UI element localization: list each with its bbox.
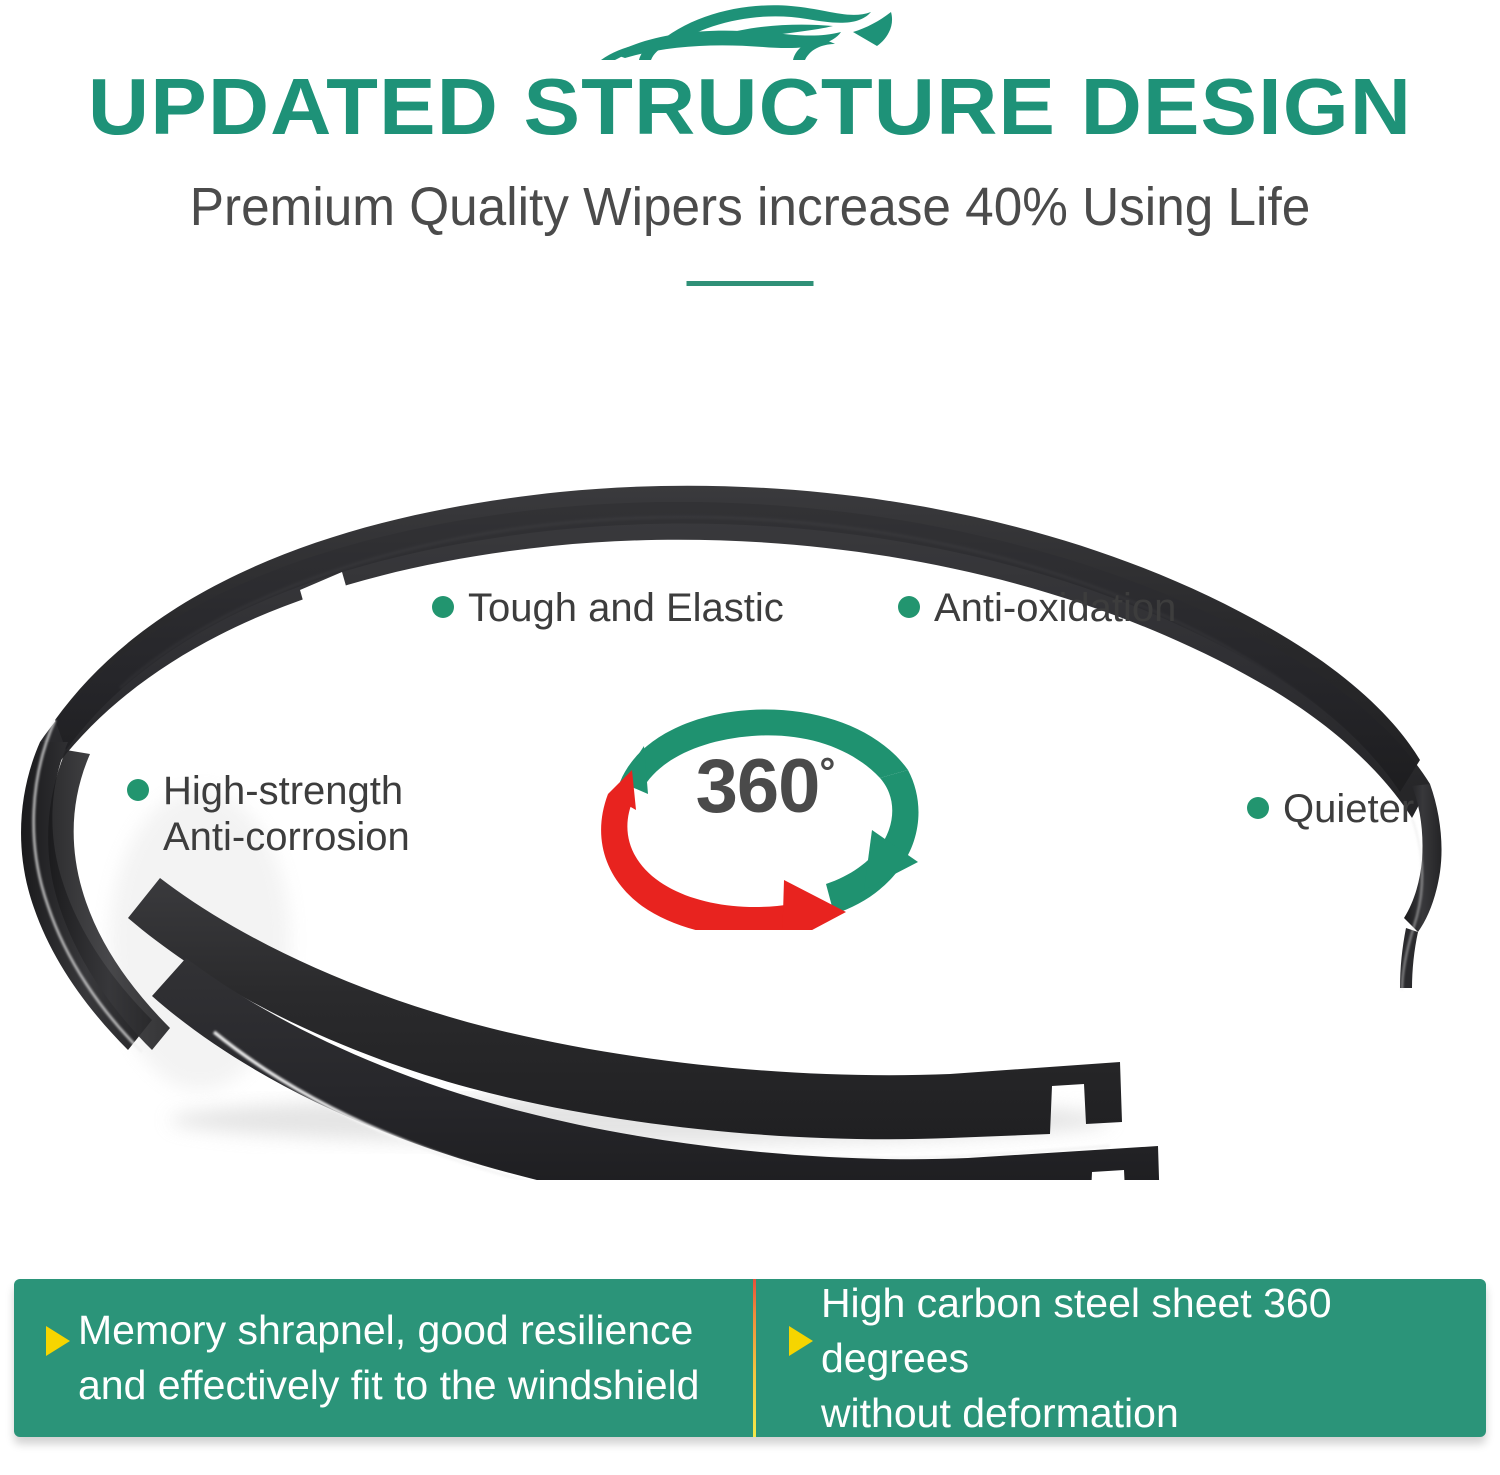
feature-label: Tough and Elastic — [468, 585, 784, 631]
page-subtitle: Premium Quality Wipers increase 40% Usin… — [38, 172, 1463, 242]
banner-item-memory-shrapnel: Memory shrapnel, good resilience and eff… — [14, 1279, 753, 1437]
triangle-right-icon — [46, 1326, 70, 1356]
badge-degree-symbol: ° — [819, 751, 834, 795]
banner-item-text: Memory shrapnel, good resilience and eff… — [78, 1303, 699, 1413]
title-divider — [687, 281, 814, 286]
banner-item-high-carbon-steel: High carbon steel sheet 360 degrees with… — [753, 1279, 1486, 1437]
feature-label: Quieter — [1283, 786, 1414, 832]
feature-quieter: Quieter — [1247, 786, 1414, 832]
feature-high-strength-anti-corrosion: High-strength Anti-corrosion — [127, 768, 410, 860]
badge-number: 360 — [696, 744, 820, 829]
triangle-right-icon — [789, 1326, 813, 1356]
car-silhouette-logo-icon — [595, 2, 905, 64]
page-title: UPDATED STRUCTURE DESIGN — [0, 62, 1500, 152]
bottom-feature-banner: Memory shrapnel, good resilience and eff… — [14, 1279, 1486, 1437]
banner-item-text: High carbon steel sheet 360 degrees with… — [821, 1276, 1462, 1441]
bullet-dot-icon — [432, 596, 454, 618]
feature-label: Anti-oxidation — [934, 585, 1176, 631]
badge-value: 360° — [578, 746, 958, 828]
bullet-dot-icon — [127, 779, 149, 801]
feature-label: High-strength Anti-corrosion — [163, 768, 410, 860]
product-feature-infographic: UPDATED STRUCTURE DESIGN Premium Quality… — [0, 0, 1500, 1475]
bullet-dot-icon — [898, 596, 920, 618]
360-degree-badge: 360° — [578, 698, 958, 930]
feature-anti-oxidation: Anti-oxidation — [898, 585, 1176, 631]
bullet-dot-icon — [1247, 797, 1269, 819]
feature-tough-and-elastic: Tough and Elastic — [432, 585, 784, 631]
